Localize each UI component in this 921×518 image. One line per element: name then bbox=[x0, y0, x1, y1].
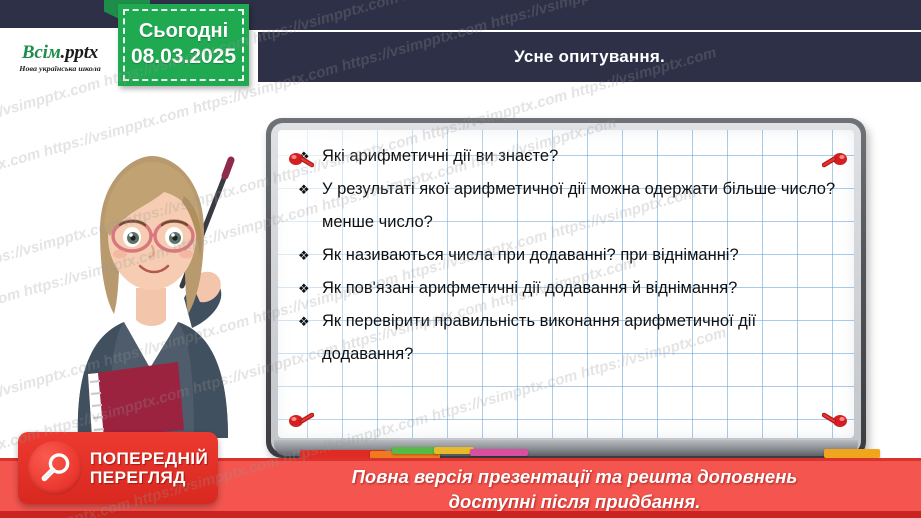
pushpin-icon bbox=[288, 410, 314, 430]
brand-logo: Всім.pptx Нова українська школа bbox=[0, 28, 120, 88]
question-item: У результаті якої арифметичної дії можна… bbox=[296, 173, 838, 239]
logo-wordmark: Всім.pptx bbox=[22, 43, 98, 62]
pushpin-icon bbox=[822, 410, 848, 430]
logo-extension-text: pptx bbox=[65, 42, 98, 63]
today-date-badge: Сьогодні 08.03.2025 bbox=[118, 4, 249, 86]
question-item: Як називаються числа при додаванні? при … bbox=[296, 239, 838, 272]
question-item: Які арифметичні дії ви знаєте? bbox=[296, 140, 838, 173]
question-list: Які арифметичні дії ви знаєте? У результ… bbox=[278, 130, 854, 371]
marker-pen bbox=[824, 449, 880, 458]
question-item: Як перевірити правильність виконання ари… bbox=[296, 305, 838, 371]
whiteboard: Які арифметичні дії ви знаєте? У результ… bbox=[266, 118, 866, 458]
pushpin-icon bbox=[288, 150, 314, 170]
preview-badge-line-2: ПЕРЕГЛЯД bbox=[90, 468, 208, 487]
preview-badge-text: ПОПЕРЕДНІЙ ПЕРЕГЛЯД bbox=[91, 449, 207, 487]
logo-primary-text: Всім bbox=[22, 42, 61, 63]
question-item: Як пов'язані арифметичні дії додавання й… bbox=[296, 272, 838, 305]
marker-pen bbox=[392, 447, 438, 454]
whiteboard-frame: Які арифметичні дії ви знаєте? У результ… bbox=[266, 118, 866, 458]
purchase-banner-line-1: Повна версія презентації та решта доповн… bbox=[238, 464, 911, 489]
purchase-banner-text: Повна версія презентації та решта доповн… bbox=[238, 464, 911, 514]
preview-badge-icon-circle bbox=[28, 441, 82, 495]
magnifier-icon bbox=[38, 451, 72, 485]
whiteboard-surface: Які арифметичні дії ви знаєте? У результ… bbox=[278, 130, 854, 438]
pushpin-icon bbox=[822, 150, 848, 170]
preview-badge-line-1: ПОПЕРЕДНІЙ bbox=[90, 449, 208, 468]
purchase-banner-line-2: доступні після придбання. bbox=[238, 489, 911, 514]
notebook bbox=[88, 362, 184, 438]
date-badge-label: Сьогодні bbox=[139, 19, 228, 44]
marker-pen bbox=[470, 449, 528, 456]
preview-badge[interactable]: ПОПЕРЕДНІЙ ПЕРЕГЛЯД bbox=[18, 432, 218, 504]
date-badge-value: 08.03.2025 bbox=[131, 44, 236, 70]
slide-canvas: Всім.pptx Нова українська школа Сьогодні… bbox=[0, 0, 921, 518]
marker-pen bbox=[434, 447, 474, 454]
logo-tagline: Нова українська школа bbox=[19, 65, 100, 72]
slide-title-bar: Усне опитування. bbox=[258, 32, 921, 82]
page-title: Усне опитування. bbox=[514, 47, 665, 67]
teacher-illustration bbox=[32, 138, 267, 438]
